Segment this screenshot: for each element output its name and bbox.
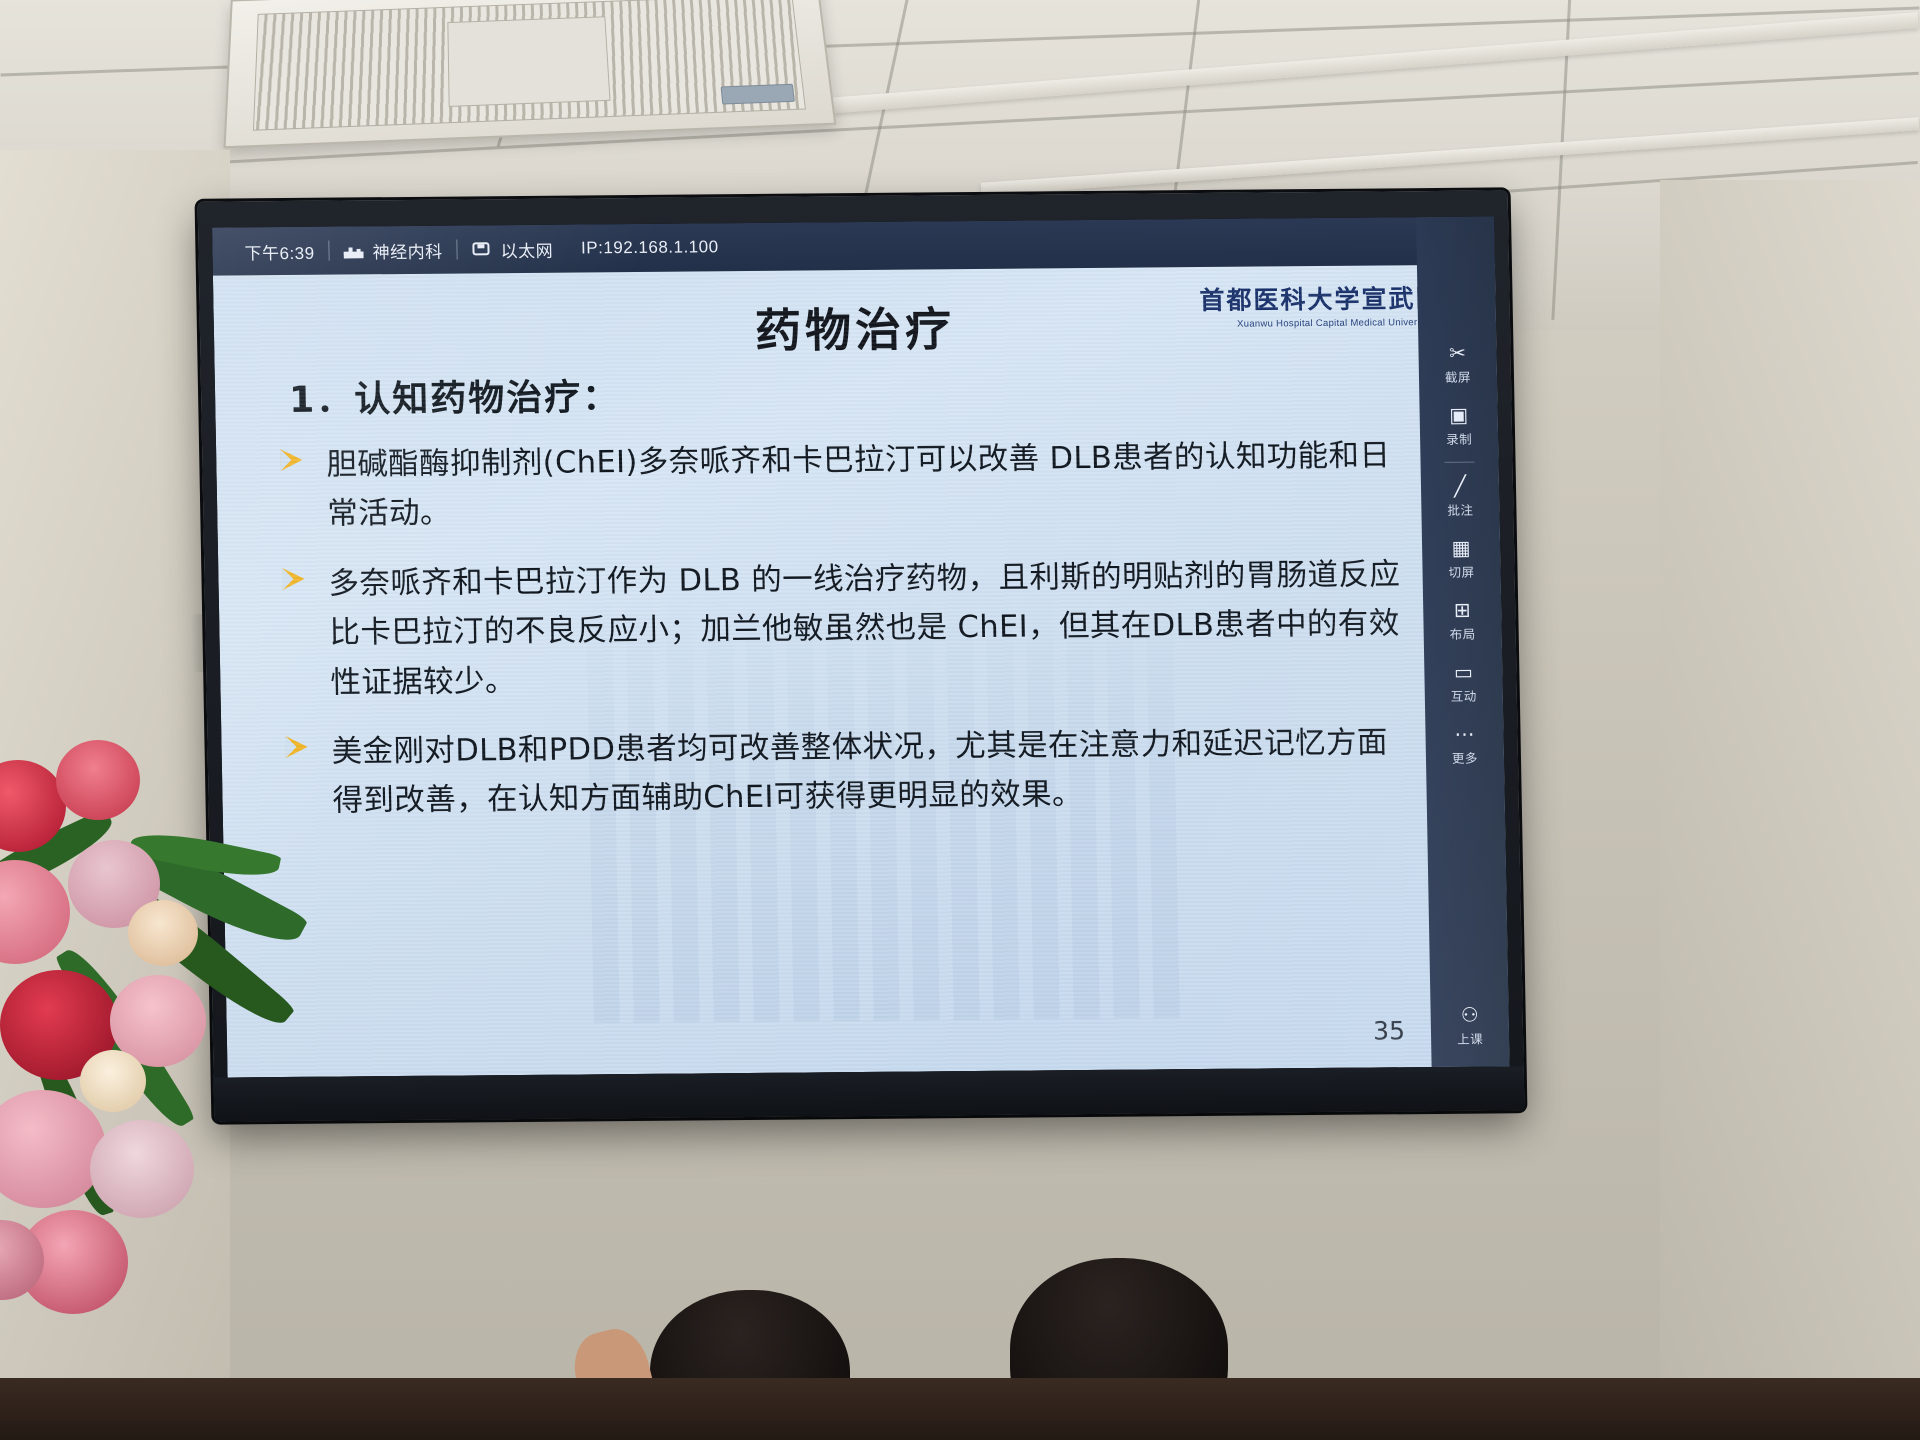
toolbar-divider	[1445, 462, 1475, 463]
bullet-text: 美金刚对DLB和PDD患者均可改善整体状况，尤其是在注意力和延迟记忆方面得到改善…	[331, 718, 1413, 826]
arrow-bullet-icon	[280, 449, 302, 471]
bullet-item: 胆碱酯酶抑制剂(ChEI)多奈哌齐和卡巴拉汀可以改善 DLB患者的认知功能和日常…	[272, 431, 1408, 540]
slide-title: 药物治疗	[213, 288, 1496, 365]
smart-board: 下午6:39 神经内科 以太网 IP:192.168.1.100	[198, 190, 1525, 1121]
meeting-table	[0, 1378, 1920, 1440]
toolbar-item-more[interactable]: ⋯ 更多	[1425, 715, 1504, 776]
room-label: 神经内科	[372, 237, 442, 263]
ethernet-icon	[471, 241, 491, 257]
toolbar-label: 批注	[1447, 500, 1473, 519]
status-network: 以太网	[457, 236, 567, 262]
more-icon: ⋯	[1454, 725, 1474, 745]
bullet-text: 多奈哌齐和卡巴拉汀作为 DLB 的一线治疗药物，且利斯的明贴剂的胃肠道反应比卡巴…	[328, 550, 1411, 708]
section-heading: 1．认知药物治疗：	[271, 361, 1406, 423]
toolbar-label: 截屏	[1445, 367, 1471, 386]
presentation-slide: 首都医科大学宣武医院 Xuanwu Hospital Capital Medic…	[213, 264, 1510, 1077]
grid-icon: ▦	[1451, 539, 1470, 559]
status-room: 神经内科	[329, 237, 456, 263]
toolbar-label: 布局	[1449, 624, 1475, 643]
building-icon	[343, 242, 363, 258]
board-screen: 下午6:39 神经内科 以太网 IP:192.168.1.100	[212, 216, 1510, 1077]
toolbar-item-interact[interactable]: ▭ 互动	[1424, 653, 1503, 714]
board-toolbar: ✂ 截屏 ▣ 录制 ╱ 批注 ▦ 切屏	[1416, 216, 1510, 1067]
toolbar-item-annotate[interactable]: ╱ 批注	[1421, 467, 1500, 528]
toolbar-item-start-class[interactable]: ⚇ 上课	[1430, 996, 1509, 1057]
meeting-room-scene: 下午6:39 神经内科 以太网 IP:192.168.1.100	[0, 0, 1920, 1440]
class-icon: ⚇	[1461, 1006, 1479, 1026]
bullet-item: 多奈哌齐和卡巴拉汀作为 DLB 的一线治疗药物，且利斯的明贴剂的胃肠道反应比卡巴…	[274, 550, 1411, 708]
toolbar-label: 上课	[1457, 1029, 1483, 1048]
toolbar-item-screenshot[interactable]: ✂ 截屏	[1418, 334, 1497, 395]
slide-page-number: 35	[1373, 1016, 1405, 1045]
record-icon: ▣	[1449, 406, 1468, 426]
toolbar-item-switch-screen[interactable]: ▦ 切屏	[1422, 529, 1501, 590]
toolbar-label: 切屏	[1448, 562, 1474, 581]
status-ip: IP:192.168.1.100	[567, 237, 733, 258]
time-label: 下午6:39	[244, 238, 315, 264]
ip-label: IP:192.168.1.100	[581, 237, 719, 258]
status-time: 下午6:39	[230, 238, 329, 264]
interact-icon: ▭	[1454, 663, 1473, 683]
toolbar-label: 互动	[1451, 686, 1477, 705]
flower-bouquet	[0, 720, 390, 1360]
toolbar-item-layout[interactable]: ⊞ 布局	[1423, 591, 1502, 652]
scissors-icon: ✂	[1449, 344, 1466, 364]
pen-icon: ╱	[1454, 477, 1466, 497]
network-label: 以太网	[500, 236, 553, 261]
toolbar-label: 录制	[1446, 429, 1472, 448]
bullet-item: 美金刚对DLB和PDD患者均可改善整体状况，尤其是在注意力和延迟记忆方面得到改善…	[277, 718, 1413, 827]
layout-icon: ⊞	[1454, 601, 1471, 621]
toolbar-item-record[interactable]: ▣ 录制	[1419, 396, 1498, 457]
bullet-text: 胆碱酯酶抑制剂(ChEI)多奈哌齐和卡巴拉汀可以改善 DLB患者的认知功能和日常…	[326, 431, 1408, 539]
arrow-bullet-icon	[282, 568, 304, 590]
slide-content: 1．认知药物治疗： 胆碱酯酶抑制剂(ChEI)多奈哌齐和卡巴拉汀可以改善 DLB…	[271, 361, 1414, 847]
toolbar-label: 更多	[1452, 748, 1478, 767]
